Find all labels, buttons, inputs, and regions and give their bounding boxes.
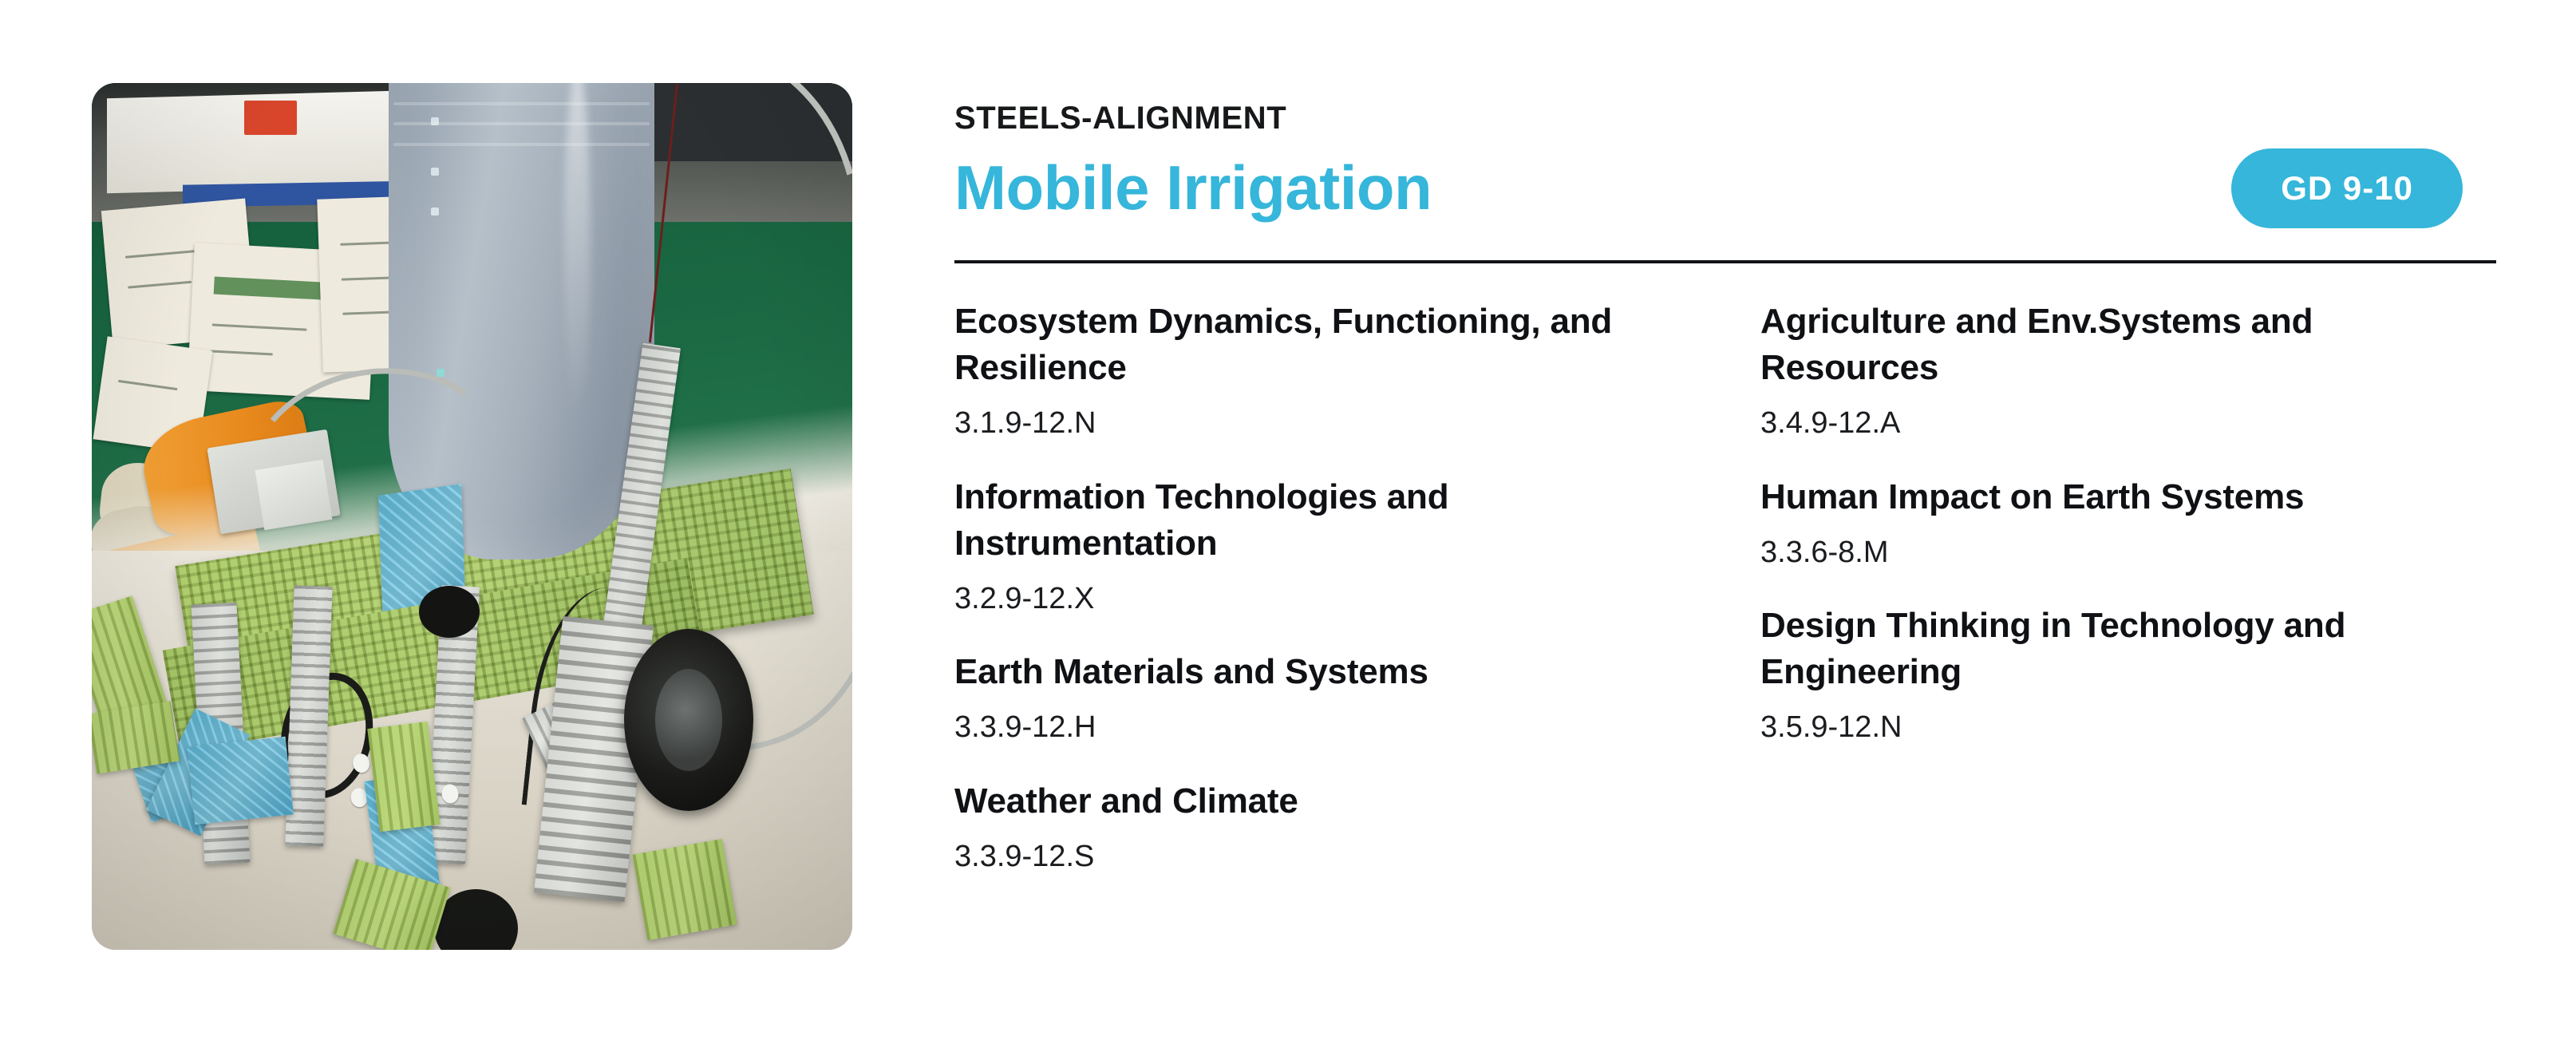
steels-alignment-card: STEELS-ALIGNMENT Mobile Irrigation GD 9-…	[0, 0, 2576, 1052]
standard-item[interactable]: Weather and Climate 3.3.9-12.S	[954, 778, 1760, 876]
standards-columns: Ecosystem Dynamics, Functioning, and Res…	[954, 299, 2483, 876]
standard-name: Ecosystem Dynamics, Functioning, and Res…	[954, 299, 1673, 391]
divider	[954, 260, 2496, 263]
page-title: Mobile Irrigation	[954, 154, 1432, 223]
standard-code: 3.3.6-8.M	[1760, 533, 2479, 572]
standard-item[interactable]: Information Technologies and Instrumenta…	[954, 474, 1760, 619]
photo-wheel	[624, 629, 753, 811]
standard-name: Agriculture and Env.Systems and Resource…	[1760, 299, 2479, 391]
project-photo-image	[92, 83, 852, 950]
standard-code: 3.3.9-12.H	[954, 708, 1760, 747]
standard-item[interactable]: Ecosystem Dynamics, Functioning, and Res…	[954, 299, 1760, 444]
eyebrow-label: STEELS-ALIGNMENT	[954, 102, 2483, 134]
photo-bg-red-tag	[244, 101, 298, 135]
project-photo	[92, 83, 852, 950]
standard-name: Information Technologies and Instrumenta…	[954, 474, 1673, 567]
photo-metal-bracket	[255, 460, 332, 530]
standard-item[interactable]: Human Impact on Earth Systems 3.3.6-8.M	[1760, 474, 2479, 572]
standard-code: 3.3.9-12.S	[954, 837, 1760, 876]
photo-green-foot	[367, 721, 441, 832]
photo-green-foot	[633, 839, 737, 940]
standards-column-left: Ecosystem Dynamics, Functioning, and Res…	[954, 299, 1760, 876]
standard-item[interactable]: Agriculture and Env.Systems and Resource…	[1760, 299, 2479, 444]
photo-blue-plate	[187, 737, 293, 825]
photo-green-foot	[92, 701, 180, 773]
standards-column-right: Agriculture and Env.Systems and Resource…	[1760, 299, 2479, 876]
standard-name: Earth Materials and Systems	[954, 649, 1673, 695]
card-content: STEELS-ALIGNMENT Mobile Irrigation GD 9-…	[954, 83, 2483, 876]
standard-name: Weather and Climate	[954, 778, 1673, 825]
grade-badge[interactable]: GD 9-10	[2231, 148, 2463, 228]
standard-code: 3.1.9-12.N	[954, 404, 1760, 443]
standard-name: Design Thinking in Technology and Engine…	[1760, 603, 2479, 695]
standard-item[interactable]: Earth Materials and Systems 3.3.9-12.H	[954, 649, 1760, 747]
standard-code: 3.4.9-12.A	[1760, 404, 2479, 443]
standard-item[interactable]: Design Thinking in Technology and Engine…	[1760, 603, 2479, 748]
standard-name: Human Impact on Earth Systems	[1760, 474, 2479, 520]
standard-code: 3.2.9-12.X	[954, 579, 1760, 619]
standard-code: 3.5.9-12.N	[1760, 708, 2479, 747]
photo-small-wheel	[419, 586, 480, 638]
title-row: Mobile Irrigation GD 9-10	[954, 148, 2483, 228]
